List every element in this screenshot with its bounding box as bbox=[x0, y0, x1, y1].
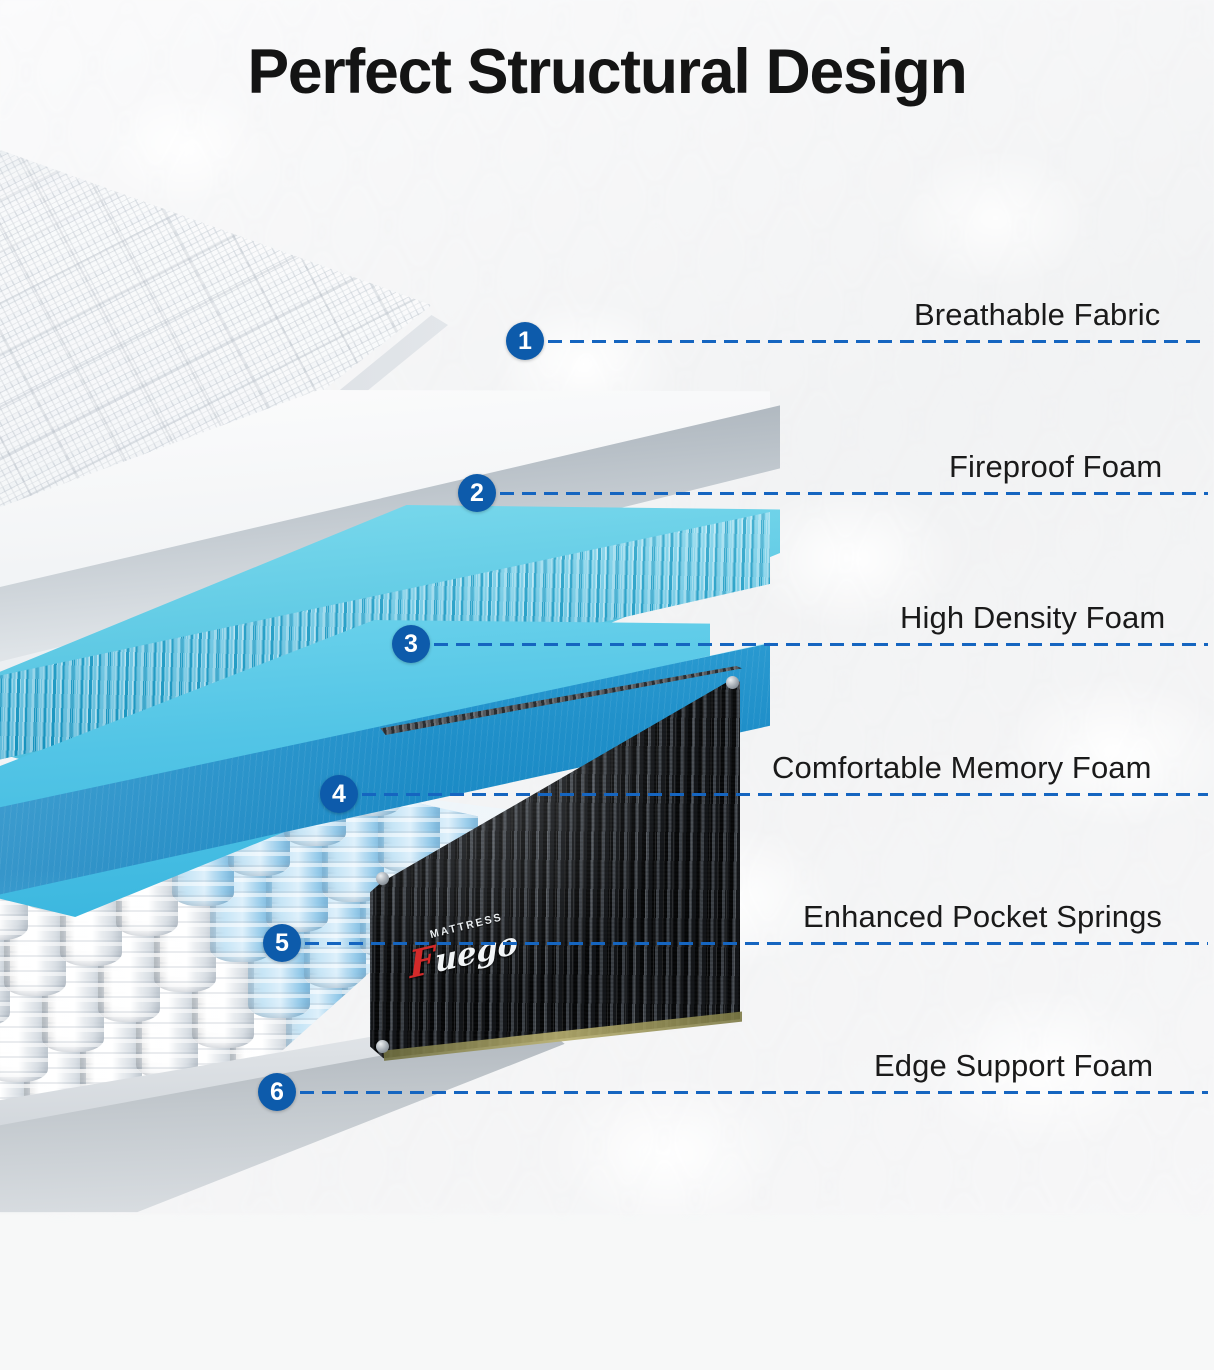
callout-badge-5[interactable]: 5 bbox=[263, 924, 301, 962]
callout-label-2: Fireproof Foam bbox=[949, 449, 1162, 485]
callout-badge-6[interactable]: 6 bbox=[258, 1073, 296, 1111]
callout-line-3 bbox=[434, 643, 1208, 646]
callout-badge-4[interactable]: 4 bbox=[320, 775, 358, 813]
callout-label-1: Breathable Fabric bbox=[914, 297, 1160, 333]
callout-line-4 bbox=[362, 793, 1208, 796]
callout-label-4: Comfortable Memory Foam bbox=[772, 750, 1152, 786]
callout-line-6 bbox=[300, 1091, 1208, 1094]
callout-line-1 bbox=[548, 340, 1208, 343]
callout-badge-1[interactable]: 1 bbox=[506, 322, 544, 360]
callout-line-5 bbox=[305, 942, 1208, 945]
callout-label-6: Edge Support Foam bbox=[874, 1048, 1153, 1084]
callout-badge-2[interactable]: 2 bbox=[458, 474, 496, 512]
callout-label-5: Enhanced Pocket Springs bbox=[803, 899, 1162, 935]
pocket-spring-coil bbox=[26, 1216, 88, 1366]
callout-line-2 bbox=[500, 492, 1208, 495]
callout-badge-3[interactable]: 3 bbox=[392, 625, 430, 663]
callout-label-3: High Density Foam bbox=[900, 600, 1165, 636]
callout-group: 1 Breathable Fabric 2 Fireproof Foam 3 H… bbox=[0, 0, 1214, 1214]
